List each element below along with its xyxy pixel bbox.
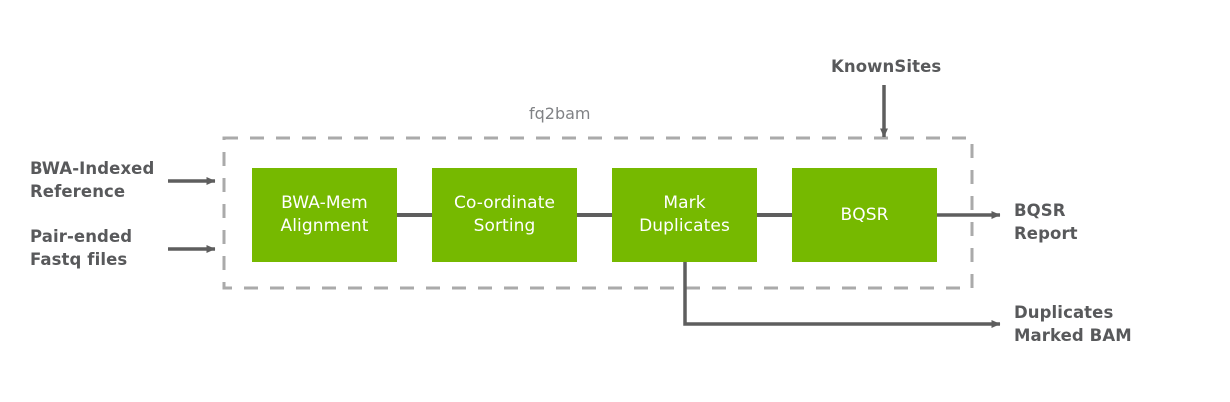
node-co-ordinate-sorting[interactable]: Co-ordinate Sorting: [432, 168, 577, 262]
input-label-bwa-indexed-reference: BWA-Indexed Reference: [30, 158, 154, 204]
output-label-bqsr-report: BQSR Report: [1014, 200, 1078, 246]
node-mark-duplicates[interactable]: Mark Duplicates: [612, 168, 757, 262]
output-label-duplicates-marked-bam: Duplicates Marked BAM: [1014, 302, 1132, 348]
input-label-known-sites: KnownSites: [831, 56, 941, 79]
input-label-pair-ended-fastq-files: Pair-ended Fastq files: [30, 226, 132, 272]
node-bqsr[interactable]: BQSR: [792, 168, 937, 262]
node-bwa-mem-alignment[interactable]: BWA-Mem Alignment: [252, 168, 397, 262]
fq2bam-group-label: fq2bam: [529, 104, 591, 123]
pipeline-diagram: fq2bam BWA-Mem Alignment Co-ordinate Sor…: [0, 0, 1230, 402]
arrow-duplicates-marked-bam: [685, 262, 1000, 324]
